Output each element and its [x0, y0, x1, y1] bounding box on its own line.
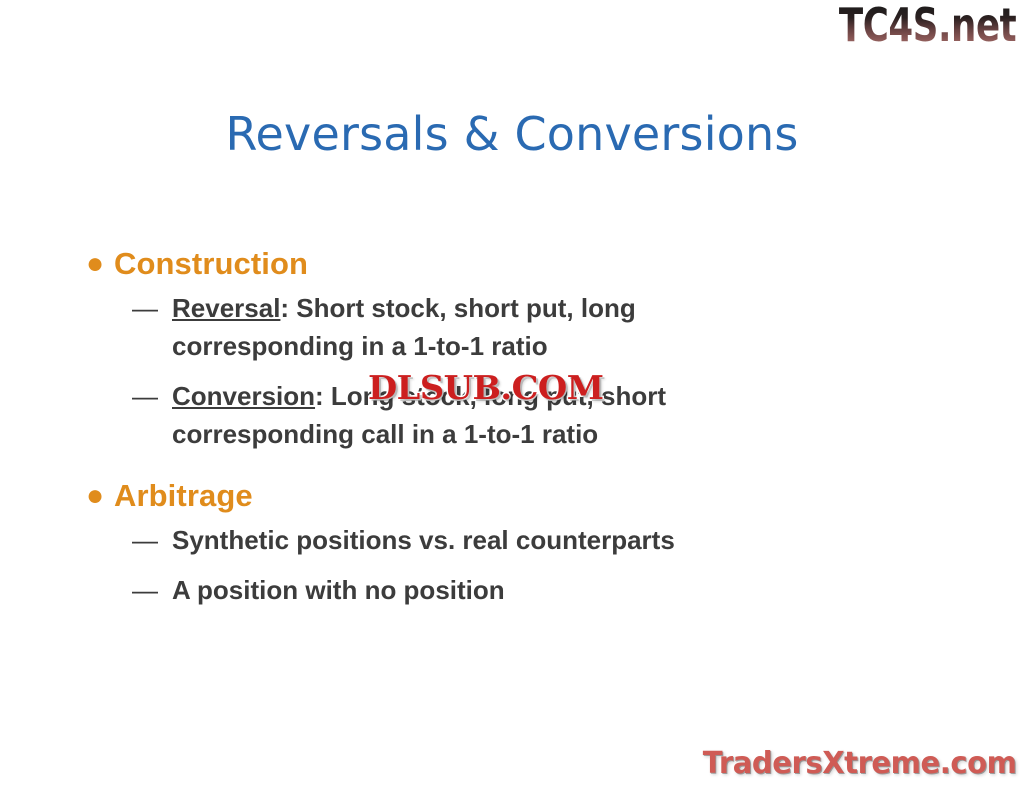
em-dash-icon: —: [132, 571, 172, 609]
slide-body: ● Construction — Reversal: Short stock, …: [80, 243, 940, 611]
em-dash-icon: —: [132, 289, 172, 327]
tc4s-logo: TC4S.net: [839, 2, 1016, 48]
bullet-dot-icon: ●: [80, 243, 114, 285]
bullet-dot-icon: ●: [80, 475, 114, 517]
spacer: [80, 367, 940, 377]
outline-item-text: A position with no position: [172, 571, 505, 609]
outline-heading-label: Arbitrage: [114, 475, 253, 517]
outline-heading-arbitrage: ● Arbitrage: [80, 475, 940, 517]
outline-item-lead: Conversion: [172, 381, 315, 411]
slide-canvas: TC4S.net Reversals & Conversions ● Const…: [0, 0, 1024, 791]
outline-item-text: Conversion: Long stock, long put, short …: [172, 377, 772, 453]
outline-item-conversion: — Conversion: Long stock, long put, shor…: [80, 377, 940, 453]
outline-heading-label: Construction: [114, 243, 308, 285]
spacer: [80, 455, 940, 475]
outline-heading-construction: ● Construction: [80, 243, 940, 285]
tradersxtreme-logo: TradersXtreme.com: [702, 749, 1016, 779]
outline-item-reversal: — Reversal: Short stock, short put, long…: [80, 289, 940, 365]
spacer: [80, 561, 940, 571]
em-dash-icon: —: [132, 377, 172, 415]
outline-item-synthetic-positions: — Synthetic positions vs. real counterpa…: [80, 521, 940, 559]
outline-item-lead: Reversal: [172, 293, 280, 323]
outline-item-no-position: — A position with no position: [80, 571, 940, 609]
em-dash-icon: —: [132, 521, 172, 559]
page-title: Reversals & Conversions: [0, 108, 1024, 161]
outline-item-text: Synthetic positions vs. real counterpart…: [172, 521, 675, 559]
outline-item-text: Reversal: Short stock, short put, long c…: [172, 289, 772, 365]
